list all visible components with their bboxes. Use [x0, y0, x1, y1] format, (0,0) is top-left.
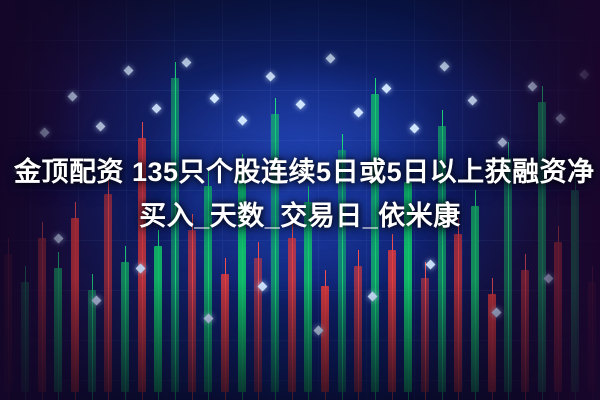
headline-line-2: 买入_天数_交易日_依米康: [14, 194, 586, 238]
headline-line-1: 金顶配资 135只个股连续5日或5日以上获融资净: [14, 150, 586, 194]
thumbnail-image: 金顶配资 135只个股连续5日或5日以上获融资净 买入_天数_交易日_依米康: [0, 0, 600, 400]
headline-block: 金顶配资 135只个股连续5日或5日以上获融资净 买入_天数_交易日_依米康: [0, 150, 600, 238]
